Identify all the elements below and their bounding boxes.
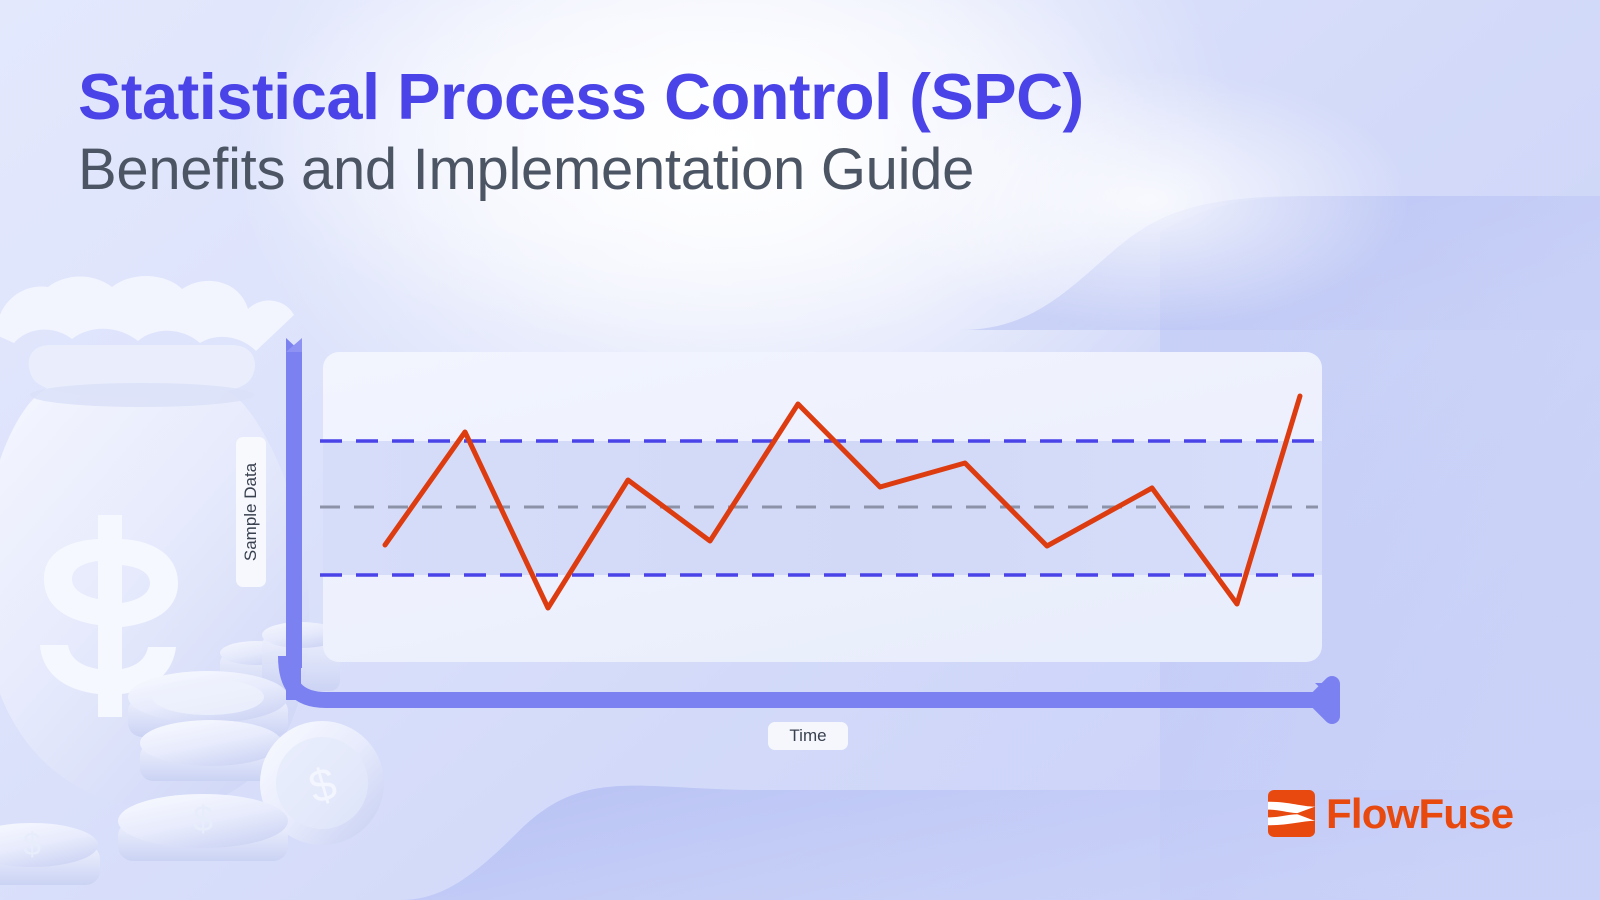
money-illustration: $ $ $: [0, 265, 410, 900]
axis-right-chamfer: [1324, 692, 1340, 708]
flowfuse-logo[interactable]: FlowFuse: [1268, 790, 1513, 837]
flowfuse-logo-icon: [1268, 790, 1315, 837]
chart-panel: [323, 352, 1322, 662]
y-axis-label: Sample Data: [236, 437, 266, 587]
dollar-sign-icon: [40, 515, 178, 717]
svg-text:$: $: [23, 826, 41, 862]
headline-block: Statistical Process Control (SPC) Benefi…: [78, 62, 1328, 202]
page-subtitle: Benefits and Implementation Guide: [78, 138, 1328, 202]
y-axis-label-text: Sample Data: [241, 463, 261, 561]
x-axis: [286, 676, 1330, 715]
flowfuse-wordmark: FlowFuse: [1326, 793, 1513, 835]
svg-text:$: $: [193, 798, 213, 839]
coin-stack-icon: $ $ $: [0, 622, 399, 885]
svg-text:$: $: [303, 756, 342, 813]
x-axis-label: Time: [768, 722, 848, 750]
axis-corner: [286, 656, 1332, 716]
page-title: Statistical Process Control (SPC): [78, 62, 1328, 132]
axis-top-chamfer: [286, 338, 302, 352]
data-series-line: [385, 396, 1300, 608]
y-axis: [286, 338, 301, 700]
wave-top-right: [960, 196, 1600, 330]
cover-canvas: $ $ $ Statistical Process Control (SPC) …: [0, 0, 1600, 900]
control-band: [323, 441, 1322, 575]
